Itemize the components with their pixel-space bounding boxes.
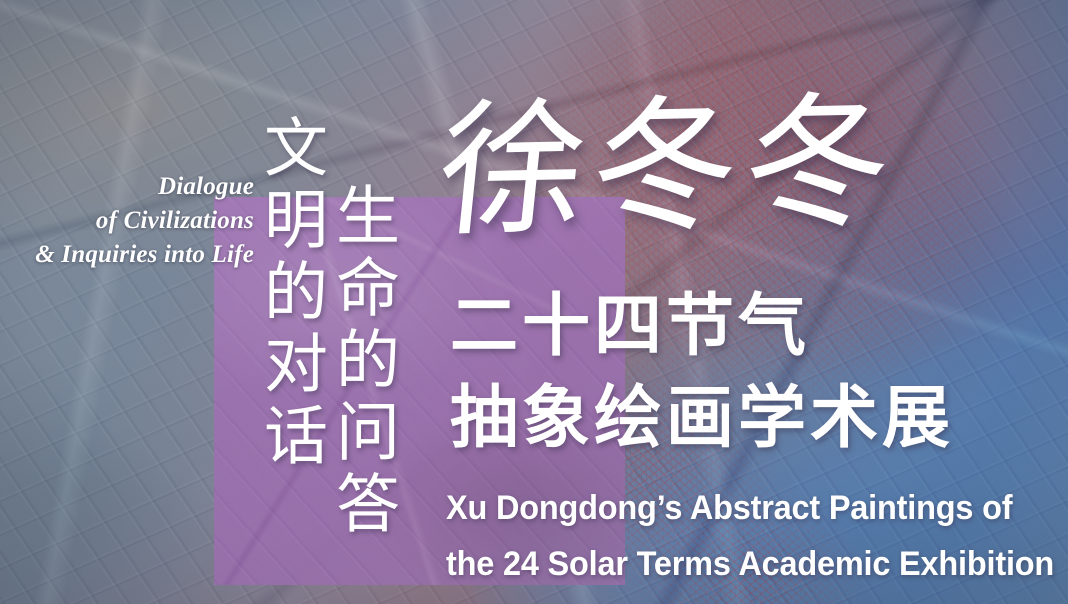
chinese-tagline-column-left: 文明的对话 — [258, 114, 322, 474]
exhibition-title-en: Xu Dongdong’s Abstract Paintings of the … — [446, 480, 1054, 592]
english-tagline-line-2: of Civilizations — [0, 204, 254, 238]
english-tagline-line-3: & Inquiries into Life — [0, 238, 254, 272]
artist-name-calligraphy: 徐冬冬 — [432, 87, 904, 247]
exhibition-poster: Dialogue of Civilizations & Inquiries in… — [0, 0, 1068, 604]
english-tagline-line-1: Dialogue — [0, 170, 254, 204]
exhibition-title-en-line-1: Xu Dongdong’s Abstract Paintings of — [446, 480, 1054, 536]
exhibition-title-cn-line-1: 二十四节气 — [450, 290, 810, 362]
english-tagline: Dialogue of Civilizations & Inquiries in… — [0, 170, 254, 272]
exhibition-title-en-line-2: the 24 Solar Terms Academic Exhibition — [446, 536, 1054, 592]
chinese-tagline-column-right: 生命的问答 — [330, 182, 394, 542]
exhibition-title-cn-line-2: 抽象绘画学术展 — [450, 382, 954, 454]
